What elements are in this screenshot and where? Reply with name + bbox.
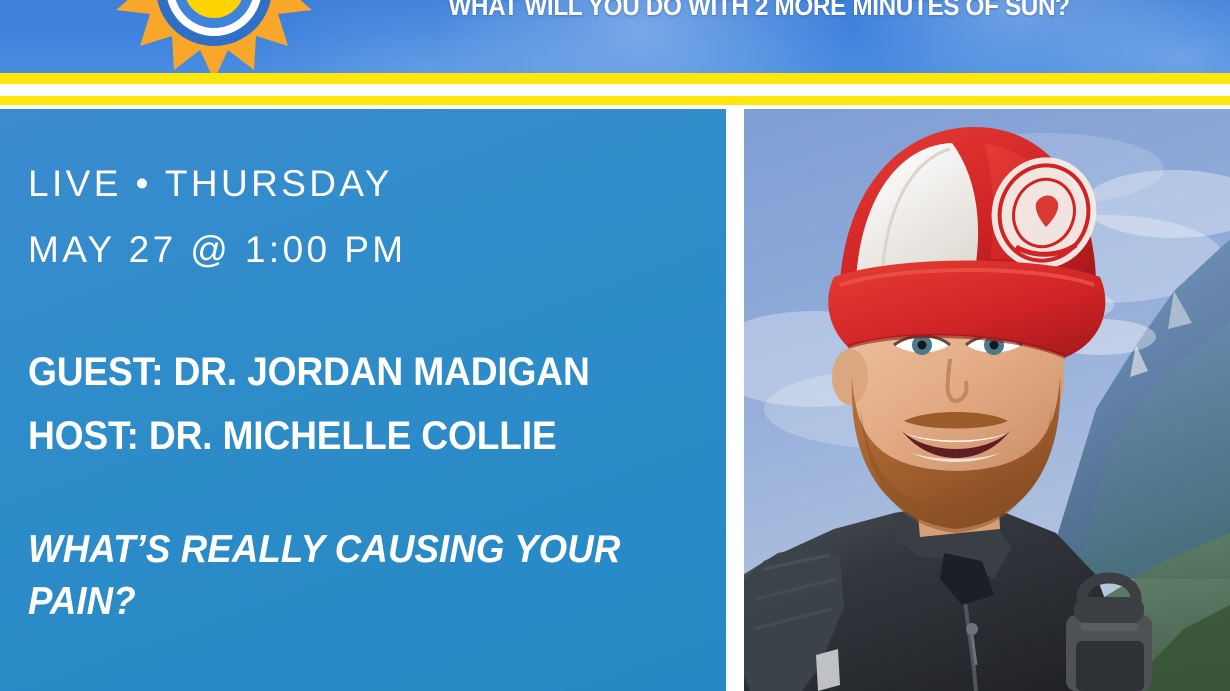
divider-yellow-upper <box>0 73 1230 84</box>
info-panel-content: LIVE • THURSDAY MAY 27 @ 1:00 PM GUEST: … <box>28 109 718 691</box>
top-banner: WHAT WILL YOU DO WITH 2 MORE MINUTES OF … <box>0 0 1230 73</box>
photo-white-border <box>726 105 744 691</box>
divider-white <box>0 84 1230 96</box>
banner-headline: WHAT WILL YOU DO WITH 2 MORE MINUTES OF … <box>390 0 1128 21</box>
guest-photo <box>744 109 1230 691</box>
divider-yellow-lower <box>0 96 1230 105</box>
host-line: HOST: DR. MICHELLE COLLIE <box>28 414 557 458</box>
sun-icon <box>108 0 320 73</box>
topic-title: WHAT’S REALLY CAUSING YOUR PAIN? <box>28 524 686 628</box>
info-panel: LIVE • THURSDAY MAY 27 @ 1:00 PM GUEST: … <box>0 109 726 691</box>
schedule-line-day: LIVE • THURSDAY <box>28 164 393 204</box>
guest-line: GUEST: DR. JORDAN MADIGAN <box>28 350 590 394</box>
webinar-promo-poster: WHAT WILL YOU DO WITH 2 MORE MINUTES OF … <box>0 0 1230 691</box>
schedule-line-time: MAY 27 @ 1:00 PM <box>28 230 407 270</box>
